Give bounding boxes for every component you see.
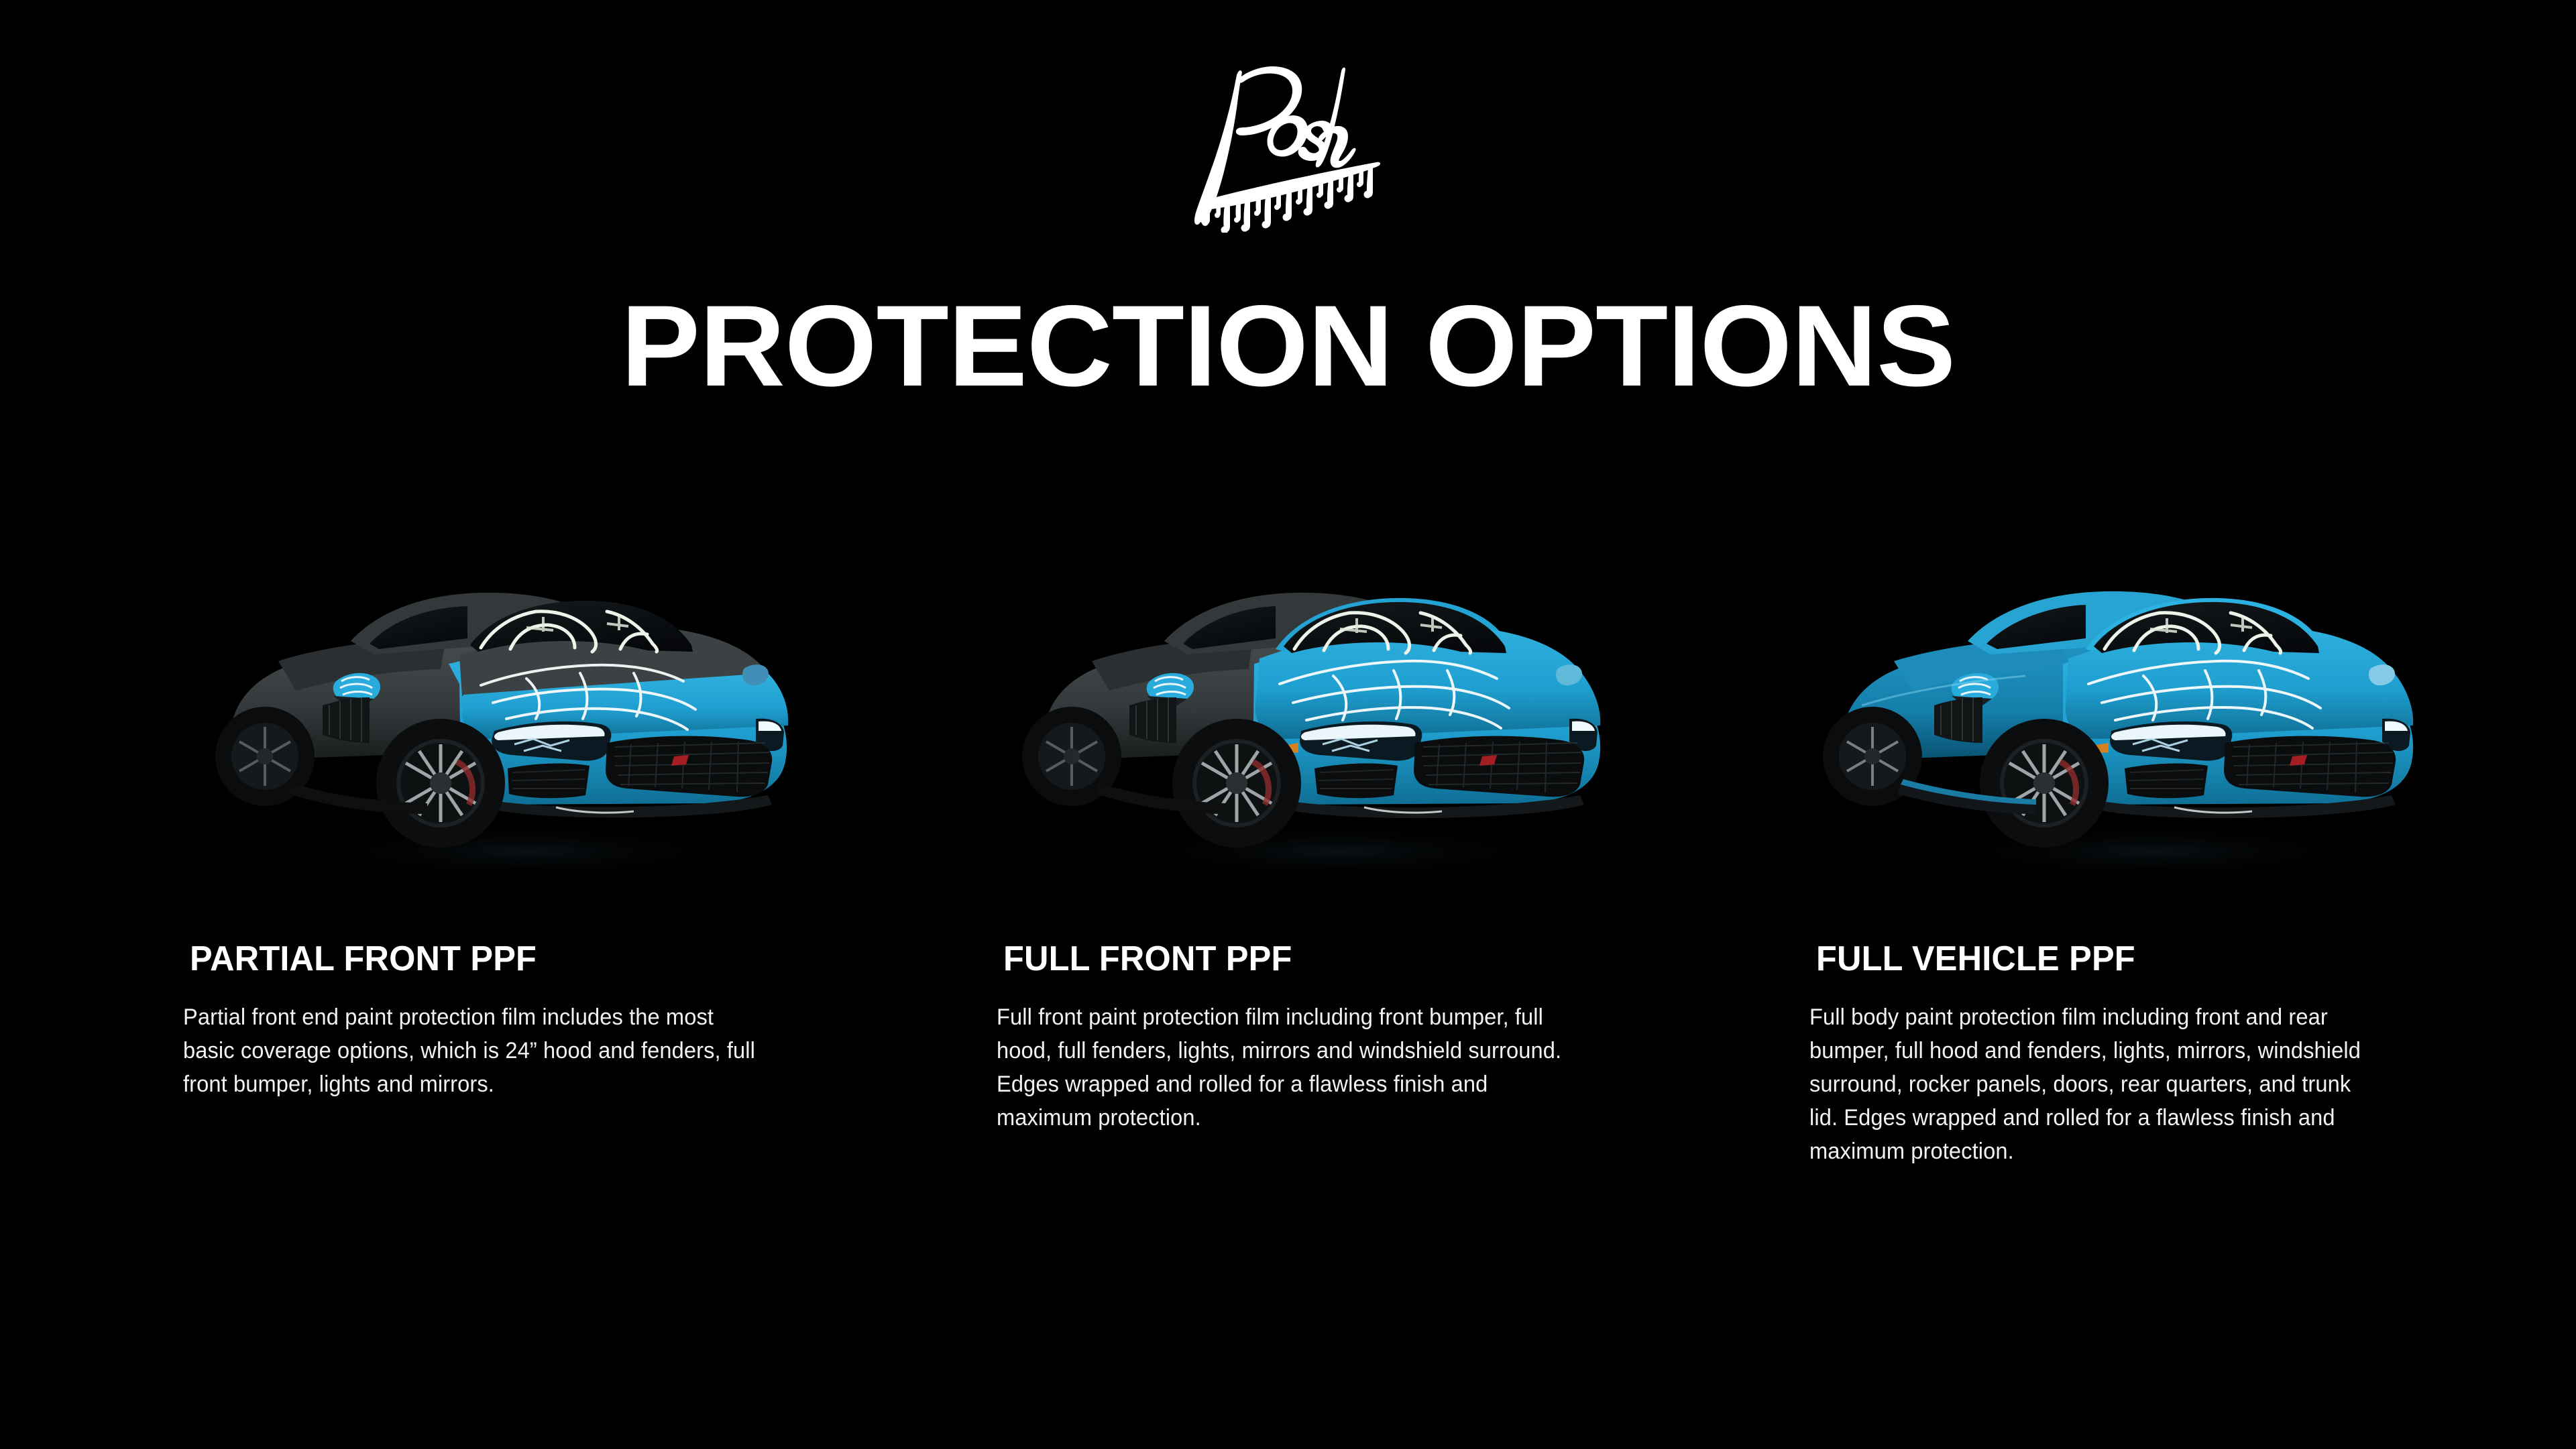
option-description: Full body paint protection film includin…	[1809, 1000, 2382, 1168]
option-description: Full front paint protection film includi…	[997, 1000, 1563, 1135]
audi-r8-illustration-partial-front-icon	[178, 530, 835, 905]
option-heading: FULL VEHICLE PPF	[1816, 941, 2135, 978]
option-heading: FULL FRONT PPF	[1003, 941, 1292, 978]
page-root: { "brand": { "logo_text": "Posh", "logo_…	[0, 0, 2576, 1449]
car-image-full-front	[991, 530, 1648, 905]
audi-r8-illustration-full-vehicle-icon	[1804, 530, 2461, 905]
option-description: Partial front end paint protection film …	[183, 1000, 763, 1101]
car-image-full-vehicle	[1804, 530, 2461, 905]
audi-r8-illustration-full-front-icon	[991, 530, 1648, 905]
car-image-partial-front	[178, 530, 835, 905]
protection-options-grid: PARTIAL FRONT PPF Partial front end pain…	[0, 0, 2576, 1449]
option-heading: PARTIAL FRONT PPF	[190, 941, 537, 978]
